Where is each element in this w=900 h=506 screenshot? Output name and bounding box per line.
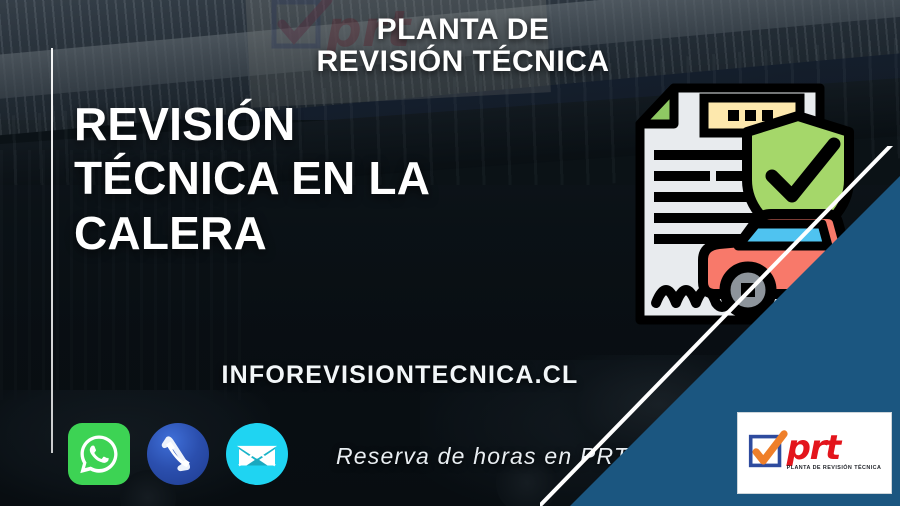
headline-line-3: CALERA — [74, 206, 634, 260]
tagline-text: Reserva de horas en PRT — [336, 443, 629, 470]
contact-icons — [68, 423, 288, 485]
vertical-divider-line — [51, 48, 53, 453]
prt-wordmark: prt — [787, 433, 882, 464]
phone-icon[interactable] — [147, 423, 209, 485]
email-icon[interactable] — [226, 423, 288, 485]
prt-wordmark-block: prt PLANTA DE REVISIÓN TÉCNICA — [787, 433, 882, 471]
kicker-heading: PLANTA DE REVISIÓN TÉCNICA — [248, 14, 678, 78]
prt-logo-inner: prt PLANTA DE REVISIÓN TÉCNICA — [748, 433, 882, 471]
poster-canvas: prt PLANTA DE REVISIÓN TÉCNICA REVISIÓN … — [0, 0, 900, 506]
prt-subtitle: PLANTA DE REVISIÓN TÉCNICA — [787, 465, 882, 471]
prt-logo[interactable]: prt PLANTA DE REVISIÓN TÉCNICA — [737, 412, 892, 494]
kicker-line-1: PLANTA DE — [248, 14, 678, 46]
prt-checkbox-icon — [748, 433, 784, 469]
kicker-line-2: REVISIÓN TÉCNICA — [248, 46, 678, 78]
website-url[interactable]: INFOREVISIONTECNICA.CL — [120, 361, 680, 390]
page-title: REVISIÓN TÉCNICA EN LA CALERA — [74, 97, 634, 260]
headline-line-1: REVISIÓN — [74, 97, 634, 151]
headline-line-2: TÉCNICA EN LA — [74, 151, 634, 205]
whatsapp-icon[interactable] — [68, 423, 130, 485]
